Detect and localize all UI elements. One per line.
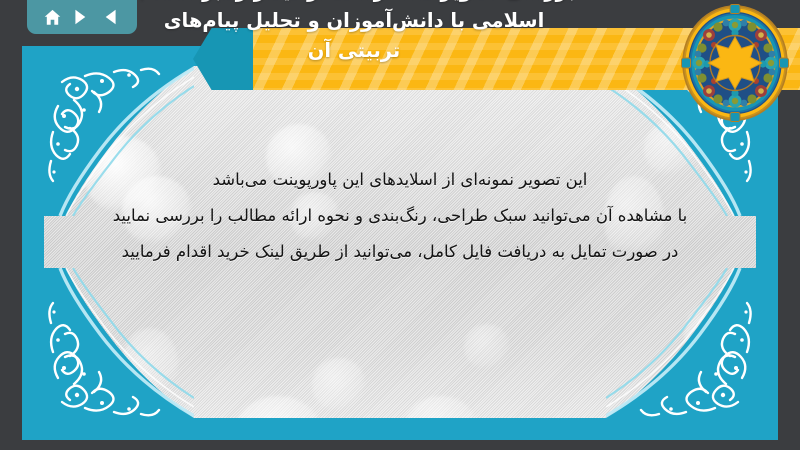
back-button[interactable]	[102, 7, 122, 27]
slide-frame: این تصویر نمونه‌ای از اسلایدهای این پاور…	[22, 46, 778, 440]
corner-ornament-bottom-right	[606, 268, 756, 418]
forward-triangle-icon	[70, 8, 88, 26]
medallion-star-center	[708, 37, 761, 89]
slide-stage: این تصویر نمونه‌ای از اسلایدهای این پاور…	[0, 0, 800, 450]
forward-button[interactable]	[69, 7, 89, 27]
slide-content-panel: این تصویر نمونه‌ای از اسلایدهای این پاور…	[44, 66, 756, 418]
arabesque-corner-ornament-icon	[606, 268, 756, 418]
home-icon	[43, 8, 62, 27]
home-button[interactable]	[42, 7, 62, 27]
back-triangle-icon	[103, 8, 121, 26]
corner-ornament-bottom-left	[44, 268, 194, 418]
body-line-3: در صورت تمایل به دریافت فایل کامل، می‌تو…	[84, 234, 716, 270]
islamic-star-medallion-icon	[681, 4, 789, 122]
slide-body-text: این تصویر نمونه‌ای از اسلایدهای این پاور…	[84, 162, 716, 270]
arabesque-corner-ornament-icon	[44, 268, 194, 418]
decorative-medallion	[681, 4, 789, 122]
navigation-bar	[27, 0, 137, 34]
body-line-2: با مشاهده آن می‌توانید سبک طراحی، رنگ‌بن…	[84, 198, 716, 234]
banner-ribbon-tail	[193, 28, 255, 90]
body-line-1: این تصویر نمونه‌ای از اسلایدهای این پاور…	[84, 162, 716, 198]
